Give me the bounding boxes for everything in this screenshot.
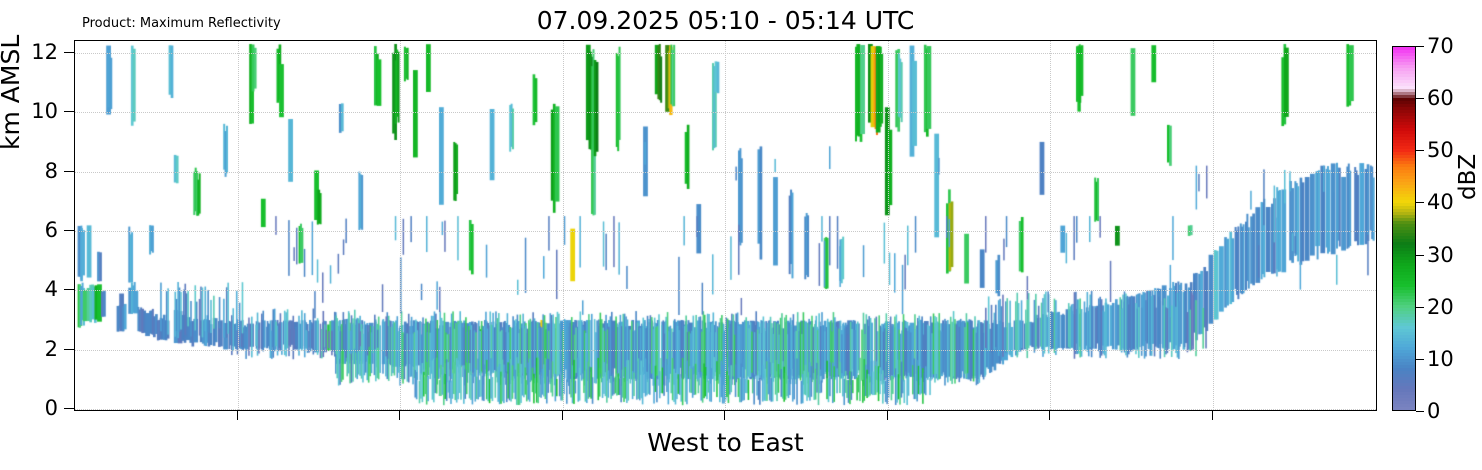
plot-area xyxy=(74,40,1377,411)
colorbar-tick-label: 20 xyxy=(1427,295,1454,319)
y-axis-tick xyxy=(64,171,74,172)
colorbar-tick-label: 60 xyxy=(1427,86,1454,110)
y-axis-tick-label: 4 xyxy=(0,277,58,301)
y-axis-tick xyxy=(64,408,74,409)
y-axis-tick-label: 6 xyxy=(0,218,58,242)
colorbar-tick-label: 10 xyxy=(1427,347,1454,371)
x-axis-tick xyxy=(562,411,563,420)
y-axis-tick-label: 0 xyxy=(0,396,58,420)
colorbar-tick xyxy=(1416,46,1424,47)
y-axis-tick xyxy=(64,52,74,53)
y-axis-tick xyxy=(64,349,74,350)
x-axis-tick xyxy=(724,411,725,420)
chart-title: 07.09.2025 05:10 - 05:14 UTC xyxy=(74,6,1377,35)
x-axis-tick xyxy=(1049,411,1050,420)
colorbar-tick xyxy=(1416,150,1424,151)
colorbar-tick-label: 70 xyxy=(1427,34,1454,58)
colorbar-tick xyxy=(1416,202,1424,203)
colorbar-title: dBZ xyxy=(1455,154,1481,200)
colorbar-tick-label: 50 xyxy=(1427,138,1454,162)
colorbar-tick xyxy=(1416,359,1424,360)
x-axis-tick xyxy=(399,411,400,420)
y-axis-tick xyxy=(64,111,74,112)
colorbar-segment xyxy=(1393,407,1415,410)
y-axis-tick-label: 2 xyxy=(0,337,58,361)
colorbar-tick xyxy=(1416,411,1424,412)
grid-line-horizontal xyxy=(75,409,1376,410)
x-axis-label: West to East xyxy=(74,428,1377,457)
colorbar-tick-label: 40 xyxy=(1427,190,1454,214)
x-axis-tick xyxy=(887,411,888,420)
colorbar-tick xyxy=(1416,98,1424,99)
colorbar-tick xyxy=(1416,307,1424,308)
y-axis-label: km AMSL xyxy=(0,35,25,150)
x-axis-tick xyxy=(237,411,238,420)
colorbar xyxy=(1392,46,1416,411)
y-axis-tick xyxy=(64,230,74,231)
y-axis-tick-label: 8 xyxy=(0,159,58,183)
radar-cross-section-figure: Product: Maximum Reflectivity 07.09.2025… xyxy=(0,0,1482,470)
y-axis-tick xyxy=(64,289,74,290)
x-axis-tick xyxy=(1212,411,1213,420)
colorbar-tick xyxy=(1416,255,1424,256)
reflectivity-heatmap-canvas xyxy=(75,41,1375,409)
colorbar-tick-label: 0 xyxy=(1427,399,1440,423)
colorbar-tick-label: 30 xyxy=(1427,243,1454,267)
